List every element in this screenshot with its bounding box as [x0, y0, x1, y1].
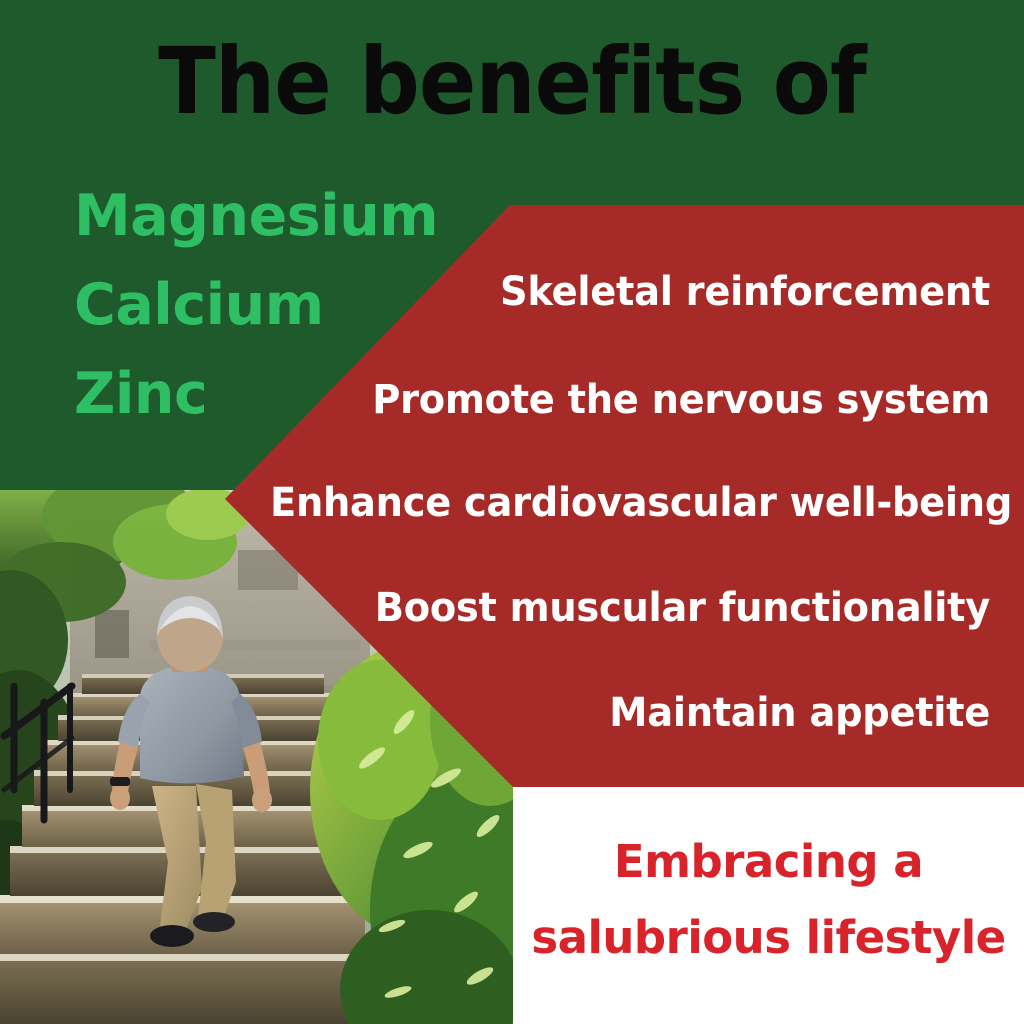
- benefit-item-maintain-appetite: Maintain appetite: [270, 690, 990, 736]
- benefit-item-skeletal-reinforcement: Skeletal reinforcement: [270, 269, 990, 315]
- benefit-item-muscular-functionality: Boost muscular functionality: [270, 585, 990, 631]
- infographic-poster: The benefits of Magnesium Calcium Zinc S…: [0, 0, 1024, 1024]
- benefit-item-cardiovascular: Enhance cardiovascular well-being: [270, 480, 990, 526]
- tagline-line-2: salubrious lifestyle: [531, 900, 1005, 976]
- benefit-list: Skeletal reinforcement Promote the nervo…: [240, 205, 990, 787]
- benefit-item-nervous-system: Promote the nervous system: [270, 377, 990, 423]
- page-title: The benefits of: [41, 34, 983, 131]
- tagline-line-1: Embracing a: [614, 824, 923, 900]
- tagline-block: Embracing a salubrious lifestyle: [513, 787, 1024, 1024]
